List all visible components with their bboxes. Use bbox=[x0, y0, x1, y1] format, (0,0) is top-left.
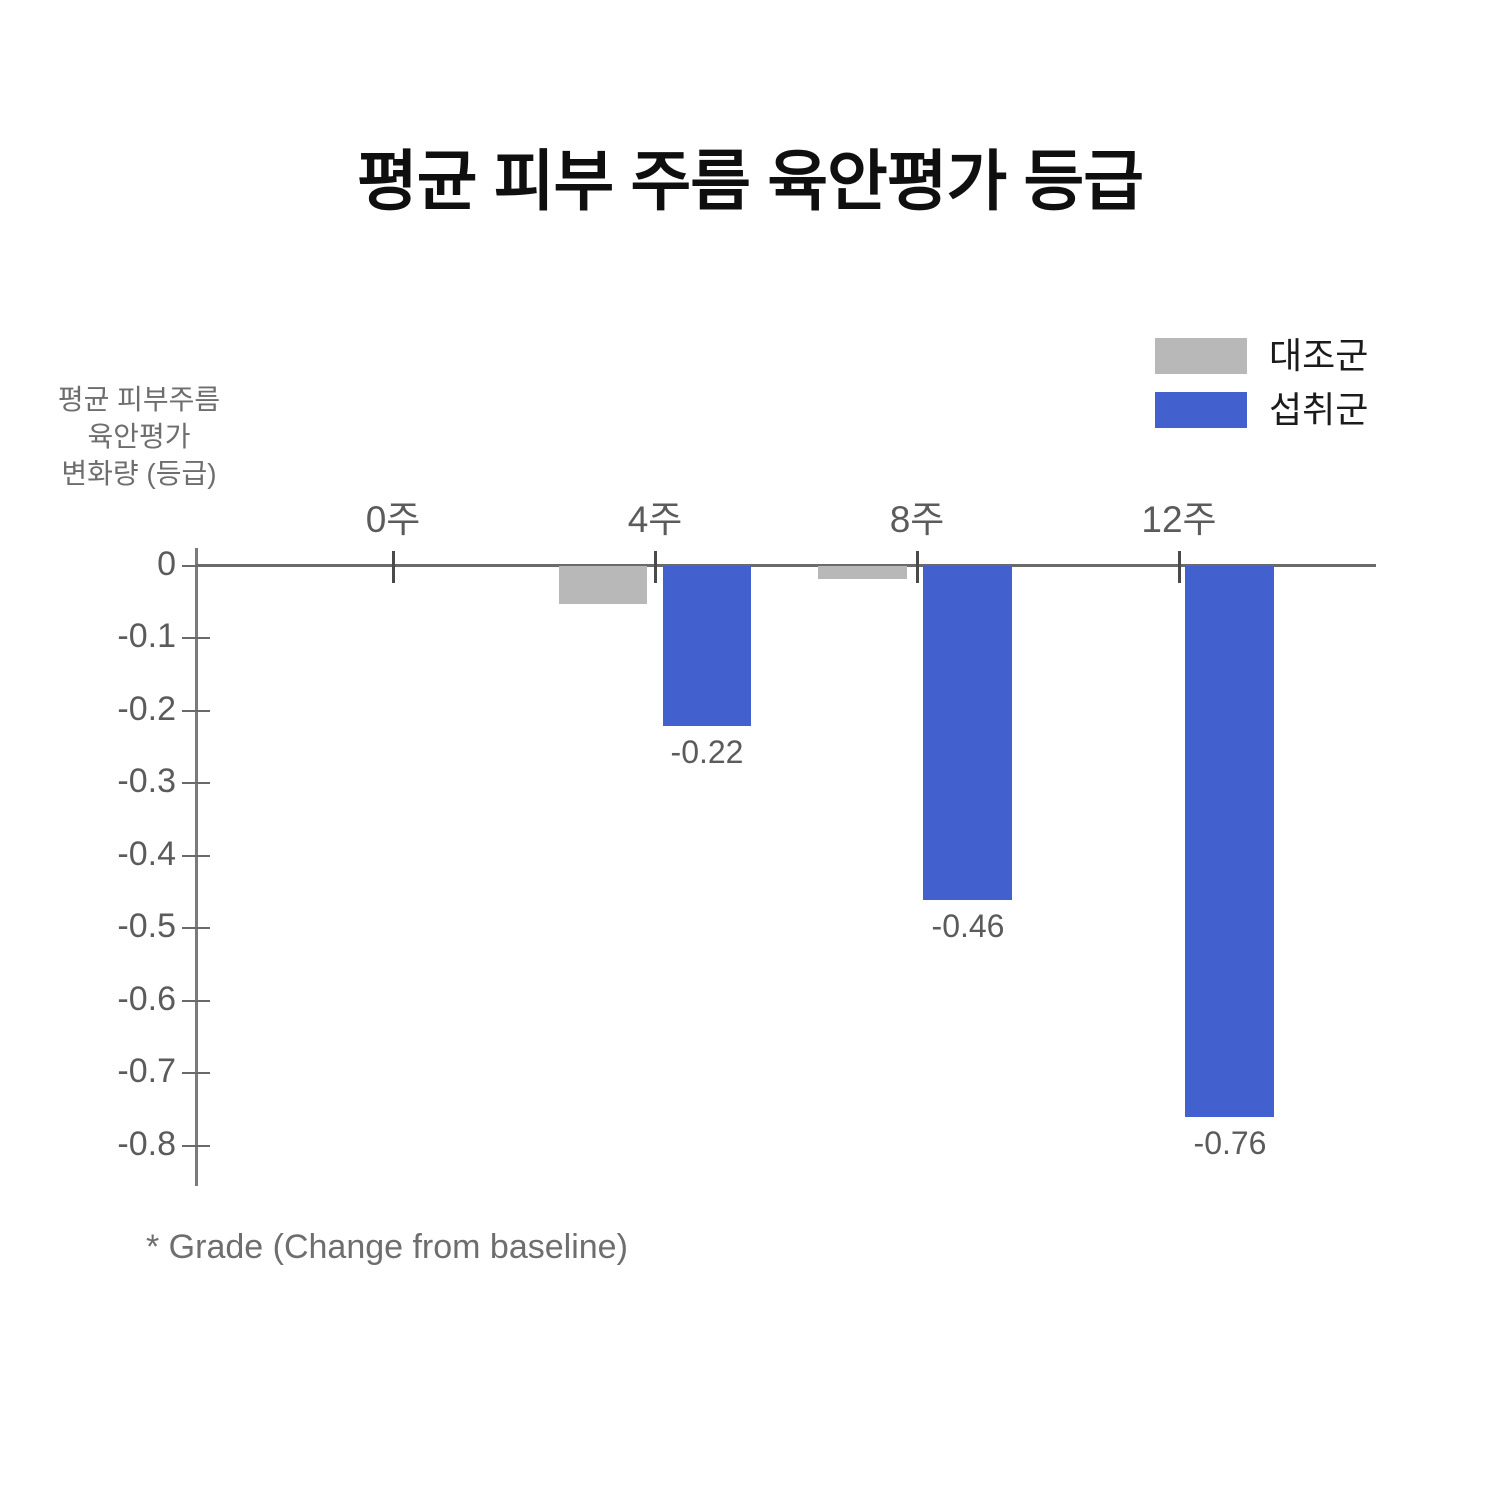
bar-intake-week4 bbox=[663, 566, 751, 726]
y-tick-5 bbox=[182, 927, 210, 929]
bar-value-intake-week12: -0.76 bbox=[1130, 1127, 1330, 1159]
y-tick-label-4: -0.4 bbox=[36, 837, 176, 871]
y-tick-label-0: 0 bbox=[36, 547, 176, 581]
y-tick-2 bbox=[182, 710, 210, 712]
y-tick-7 bbox=[182, 1072, 210, 1074]
bar-control-week4 bbox=[559, 566, 647, 604]
x-tick-label-week0: 0주 bbox=[313, 501, 473, 538]
y-tick-label-7: -0.7 bbox=[36, 1054, 176, 1088]
y-tick-label-5: -0.5 bbox=[36, 909, 176, 943]
chart-page: 평균 피부 주름 육안평가 등급 대조군 섭취군 평균 피부주름 육안평가 변화… bbox=[0, 0, 1500, 1500]
y-tick-label-8: -0.8 bbox=[36, 1127, 176, 1161]
y-tick-4 bbox=[182, 855, 210, 857]
x-tick-week4 bbox=[654, 551, 657, 583]
x-tick-label-week8: 8주 bbox=[837, 501, 997, 538]
y-tick-label-6: -0.6 bbox=[36, 982, 176, 1016]
y-tick-6 bbox=[182, 1000, 210, 1002]
y-tick-0 bbox=[182, 565, 210, 567]
y-tick-label-3: -0.3 bbox=[36, 764, 176, 798]
bar-intake-week12 bbox=[1185, 566, 1274, 1117]
y-tick-8 bbox=[182, 1145, 210, 1147]
bar-value-intake-week8: -0.46 bbox=[868, 910, 1068, 942]
x-tick-label-week4: 4주 bbox=[575, 501, 735, 538]
y-tick-3 bbox=[182, 782, 210, 784]
bar-intake-week8 bbox=[923, 566, 1012, 900]
bar-control-week8 bbox=[818, 566, 907, 579]
plot-area: 0 -0.1 -0.2 -0.3 -0.4 -0.5 -0.6 -0.7 -0.… bbox=[0, 0, 1500, 1500]
x-tick-week8 bbox=[916, 551, 919, 583]
x-tick-week12 bbox=[1178, 551, 1181, 583]
bar-value-intake-week4: -0.22 bbox=[607, 736, 807, 768]
footnote: * Grade (Change from baseline) bbox=[146, 1228, 628, 1267]
y-axis-line bbox=[195, 548, 198, 1186]
y-tick-label-1: -0.1 bbox=[36, 619, 176, 653]
x-tick-week0 bbox=[392, 551, 395, 583]
y-tick-1 bbox=[182, 637, 210, 639]
x-tick-label-week12: 12주 bbox=[1099, 501, 1259, 538]
y-tick-label-2: -0.2 bbox=[36, 692, 176, 726]
